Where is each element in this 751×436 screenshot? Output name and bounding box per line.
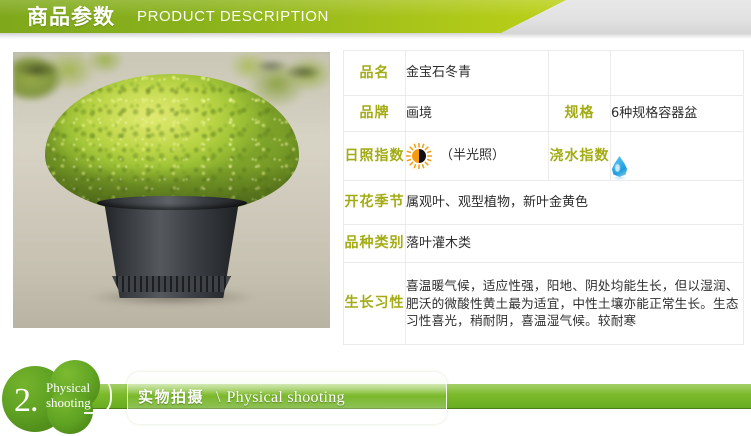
table-row: 日照指数	[344, 132, 744, 181]
spec-value-watering-index	[611, 132, 744, 181]
product-spec-table: 品名 金宝石冬青 品牌 画境 规格 6种规格容器盆 日照指数	[343, 50, 744, 345]
table-row: 品名 金宝石冬青	[344, 51, 744, 96]
half-sun-icon	[406, 143, 432, 169]
page-title-english: PRODUCT DESCRIPTION	[137, 7, 329, 27]
photo-shrub-canopy	[45, 74, 299, 214]
header-shadow-strip	[0, 33, 751, 39]
spec-value-empty-1	[611, 51, 744, 96]
spec-value-name: 金宝石冬青	[406, 51, 549, 96]
footer-title-chinese: 实物拍摄	[138, 388, 204, 406]
footer-step-badge: 2. Physical shooting	[0, 358, 132, 436]
pot-rim	[97, 196, 247, 210]
table-row: 开花季节 属观叶、观型植物，新叶金黄色	[344, 181, 744, 225]
pot-base-ridges	[110, 276, 234, 292]
spec-value-variety-category: 落叶灌木类	[406, 225, 744, 263]
spec-label-brand: 品牌	[344, 96, 406, 132]
spec-label-growth-habit: 生长习性	[344, 263, 406, 345]
spec-value-sunlight-index: （半光照）	[406, 132, 549, 181]
table-row: 生长习性 喜温暖气候，适应性强，阳地、阴处均能生长，但以湿润、肥沃的微酸性黄土最…	[344, 263, 744, 345]
spec-value-growth-habit: 喜温暖气候，适应性强，阳地、阴处均能生长，但以湿润、肥沃的微酸性黄土最为适宜，中…	[406, 263, 744, 345]
footer-title-separator: \	[216, 389, 220, 406]
spec-label-specification: 规格	[549, 96, 611, 132]
half-sun-disc	[412, 149, 426, 163]
badge-label: Physical shooting	[46, 380, 91, 410]
footer-title-english: Physical shooting	[226, 389, 344, 406]
spec-value-specification: 6种规格容器盆	[611, 96, 744, 132]
table-row: 品牌 画境 规格 6种规格容器盆	[344, 96, 744, 132]
table-row: 品种类别 落叶灌木类	[344, 225, 744, 263]
badge-label-line1: Physical	[46, 380, 91, 395]
badge-step-number: 2.	[14, 384, 38, 418]
spec-label-name: 品名	[344, 51, 406, 96]
water-drop-reflection	[612, 176, 627, 180]
page-header: 商品参数 PRODUCT DESCRIPTION	[0, 0, 751, 44]
page-title-chinese: 商品参数	[27, 2, 115, 32]
spec-label-variety-category: 品种类别	[344, 225, 406, 263]
section-footer: 实物拍摄\Physical shooting 2. Physical shoot…	[0, 358, 751, 436]
spec-value-brand: 画境	[406, 96, 549, 132]
badge-label-line2: shooting	[46, 395, 91, 410]
sunlight-index-caption: （半光照）	[440, 146, 505, 166]
footer-section-title: 实物拍摄\Physical shooting	[138, 386, 438, 407]
spec-value-flowering-season: 属观叶、观型植物，新叶金黄色	[406, 181, 744, 225]
product-photo	[13, 52, 330, 328]
spec-label-empty-1	[549, 51, 611, 96]
spec-label-watering-index: 浇水指数	[549, 132, 611, 181]
spec-label-flowering-season: 开花季节	[344, 181, 406, 225]
water-drop-highlight	[615, 164, 620, 172]
spec-label-sunlight-index: 日照指数	[344, 132, 406, 181]
